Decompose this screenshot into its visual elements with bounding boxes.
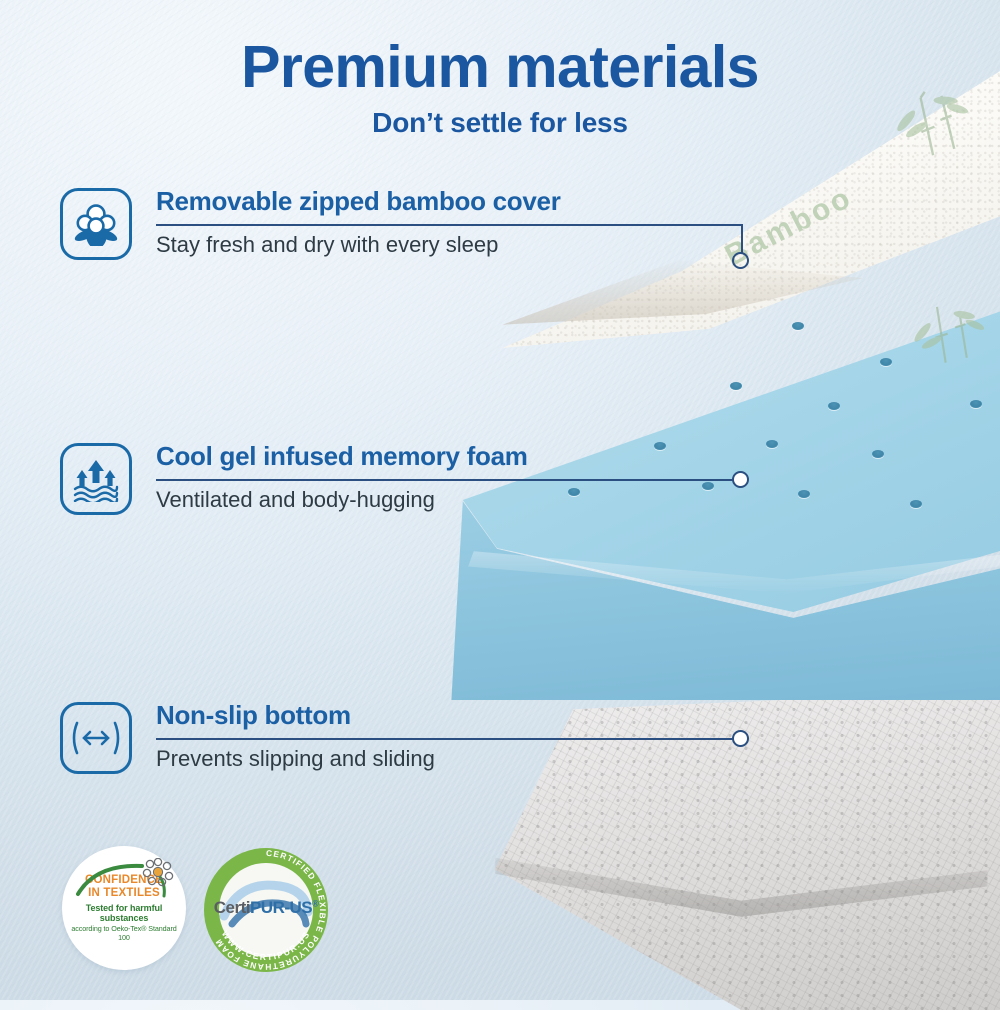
callout-marker	[732, 471, 749, 488]
heading-block: Premium materials Don’t settle for less	[0, 36, 1000, 139]
ventilation-hole	[654, 442, 666, 450]
ventilation-hole	[798, 490, 810, 498]
ventilation-hole	[828, 402, 840, 410]
certipur-certi: Certi	[214, 898, 250, 917]
bamboo-plant-icon	[896, 282, 999, 375]
oeko-tex-badge: CONFIDENCE IN TEXTILES Tested for harmfu…	[62, 846, 186, 970]
feature-divider	[156, 738, 741, 740]
certipur-pur: PUR-US	[250, 898, 312, 917]
certipur-registered: ®	[312, 898, 318, 908]
horizontal-arrow-icon	[60, 702, 132, 774]
ventilation-hole	[910, 500, 922, 508]
infographic-canvas: Bamboo	[0, 0, 1000, 1000]
feature-description: Stay fresh and dry with every sleep	[156, 232, 498, 258]
callout-leader-line	[741, 224, 743, 253]
certipur-wordmark: CertiPUR-US®	[202, 898, 330, 918]
feature-divider	[156, 224, 741, 226]
callout-marker	[732, 730, 749, 747]
certipur-us-badge: CONTAINS CERTIFIED FLEXIBLE POLYURETHANE…	[202, 846, 330, 974]
oeko-line-3: Tested for harmful substances	[68, 903, 180, 923]
airflow-waves-icon	[60, 443, 132, 515]
ventilation-hole	[730, 382, 742, 390]
cotton-boll-icon	[60, 188, 132, 260]
feature-title: Cool gel infused memory foam	[156, 441, 528, 472]
ventilation-hole	[568, 488, 580, 496]
feature-description: Prevents slipping and sliding	[156, 746, 435, 772]
oeko-line-4: according to Oeko-Tex® Standard 100	[68, 924, 180, 942]
feature-title: Non-slip bottom	[156, 700, 351, 731]
ventilation-hole	[872, 450, 884, 458]
ventilation-hole	[766, 440, 778, 448]
oeko-arc-flower-icon	[68, 858, 180, 898]
product-illustration: Bamboo	[0, 0, 1000, 1000]
ventilation-hole	[970, 400, 982, 408]
page-subtitle: Don’t settle for less	[0, 107, 1000, 139]
ventilation-hole	[702, 482, 714, 490]
feature-description: Ventilated and body-hugging	[156, 487, 435, 513]
feature-divider	[156, 479, 741, 481]
feature-title: Removable zipped bamboo cover	[156, 186, 561, 217]
page-title: Premium materials	[0, 36, 1000, 99]
callout-marker	[732, 252, 749, 269]
